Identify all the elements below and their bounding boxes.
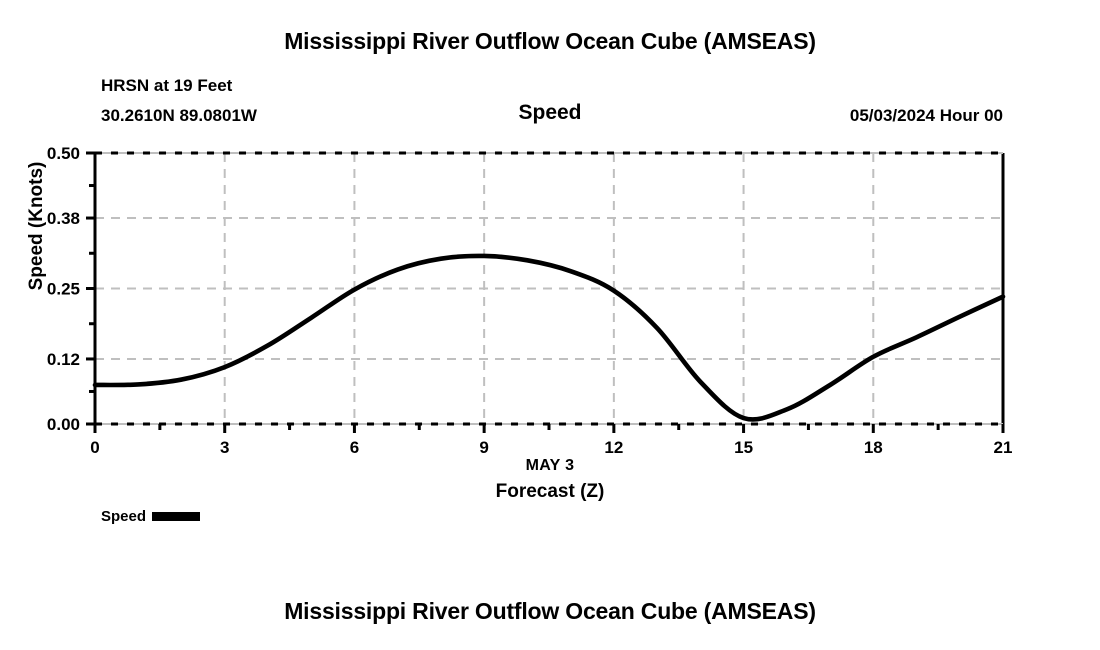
chart-page: Mississippi River Outflow Ocean Cube (AM… — [0, 0, 1100, 650]
svg-text:9: 9 — [479, 438, 488, 457]
svg-text:0: 0 — [90, 438, 99, 457]
svg-text:21: 21 — [994, 438, 1013, 457]
svg-text:15: 15 — [734, 438, 753, 457]
svg-text:18: 18 — [864, 438, 883, 457]
svg-text:3: 3 — [220, 438, 229, 457]
legend-swatch-speed — [152, 512, 200, 521]
svg-text:0.12: 0.12 — [47, 350, 80, 369]
axis-tick-labels: 0.000.120.250.380.50036912151821 — [47, 144, 1013, 457]
x-axis-label: Forecast (Z) — [0, 481, 1100, 503]
svg-text:0.00: 0.00 — [47, 415, 80, 434]
svg-text:6: 6 — [350, 438, 359, 457]
svg-text:0.25: 0.25 — [47, 280, 80, 299]
gridlines — [95, 153, 1003, 424]
page-title-bottom: Mississippi River Outflow Ocean Cube (AM… — [0, 598, 1100, 625]
chart-plot-area: 0.000.120.250.380.50036912151821 — [0, 0, 1100, 650]
svg-text:12: 12 — [604, 438, 623, 457]
svg-text:0.50: 0.50 — [47, 144, 80, 163]
axis-ticks — [86, 153, 1003, 433]
svg-text:0.38: 0.38 — [47, 209, 80, 228]
chart-legend: Speed — [101, 508, 200, 525]
speed-line-series — [95, 256, 1003, 420]
x-axis-date-label: MAY 3 — [0, 457, 1100, 475]
legend-label-speed: Speed — [101, 508, 146, 525]
